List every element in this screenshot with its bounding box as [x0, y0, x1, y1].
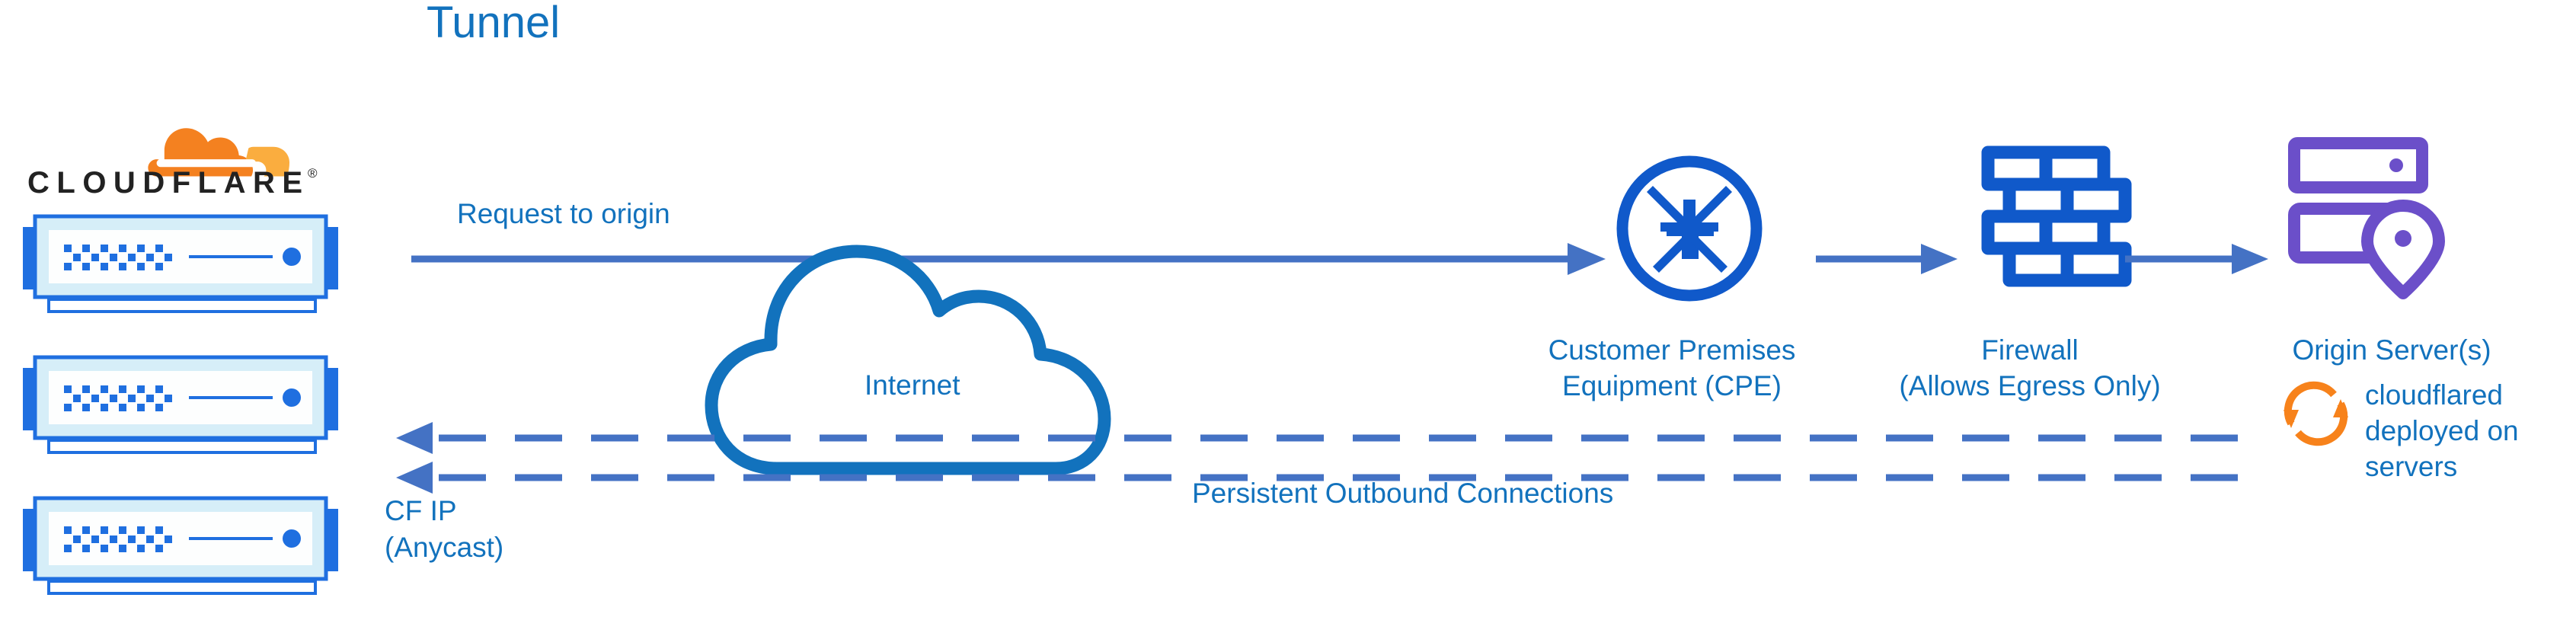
- persistent-outbound-connections-label: Persistent Outbound Connections: [1192, 478, 1613, 510]
- cloudflare-edge-server-rack: [6, 354, 355, 462]
- cf-ip-line2: (Anycast): [385, 529, 503, 566]
- cpe-to-firewall-arrow: [1816, 236, 1958, 282]
- firewall-label-line1: Firewall: [1862, 332, 2197, 368]
- origin-server-label: Origin Server(s): [2239, 332, 2544, 368]
- cloudflare-wordmark: CLOUDFLARE: [27, 166, 310, 200]
- cpe-label: Customer Premises Equipment (CPE): [1512, 332, 1832, 404]
- cloudflared-line1: cloudflared: [2365, 377, 2563, 413]
- cpe-label-line1: Customer Premises: [1512, 332, 1832, 368]
- firewall-to-origin-arrow: [2125, 236, 2268, 282]
- cloudflare-edge-server-rack: [6, 495, 355, 603]
- page-title: Tunnel: [427, 0, 560, 48]
- brick-wall-icon: [1980, 145, 2133, 297]
- registered-trademark-icon: ®: [308, 166, 318, 181]
- firewall-label-line2: (Allows Egress Only): [1862, 368, 2197, 404]
- cf-ip-line1: CF IP: [385, 493, 503, 529]
- refresh-cycle-icon: [2276, 373, 2356, 453]
- origin-server-label-line1: Origin Server(s): [2239, 332, 2544, 368]
- cloudflared-line3: servers: [2365, 449, 2563, 484]
- cpe-label-line2: Equipment (CPE): [1512, 368, 1832, 404]
- firewall-label: Firewall (Allows Egress Only): [1862, 332, 2197, 404]
- internet-label: Internet: [865, 369, 960, 401]
- persistent-outbound-connection-line: [396, 420, 2247, 456]
- request-to-origin-label: Request to origin: [457, 198, 670, 230]
- server-location-pin-icon: [2285, 137, 2453, 305]
- cloudflared-line2: deployed on: [2365, 413, 2563, 449]
- cloudflared-annotation: cloudflared deployed on servers: [2365, 377, 2563, 484]
- resize-arrows-circle-icon: [1613, 152, 1766, 305]
- tunnel-architecture-diagram: Tunnel CLOUDFLARE ®: [0, 0, 2576, 617]
- cloudflare-edge-server-rack: [6, 213, 355, 321]
- cf-ip-anycast-label: CF IP (Anycast): [385, 493, 503, 566]
